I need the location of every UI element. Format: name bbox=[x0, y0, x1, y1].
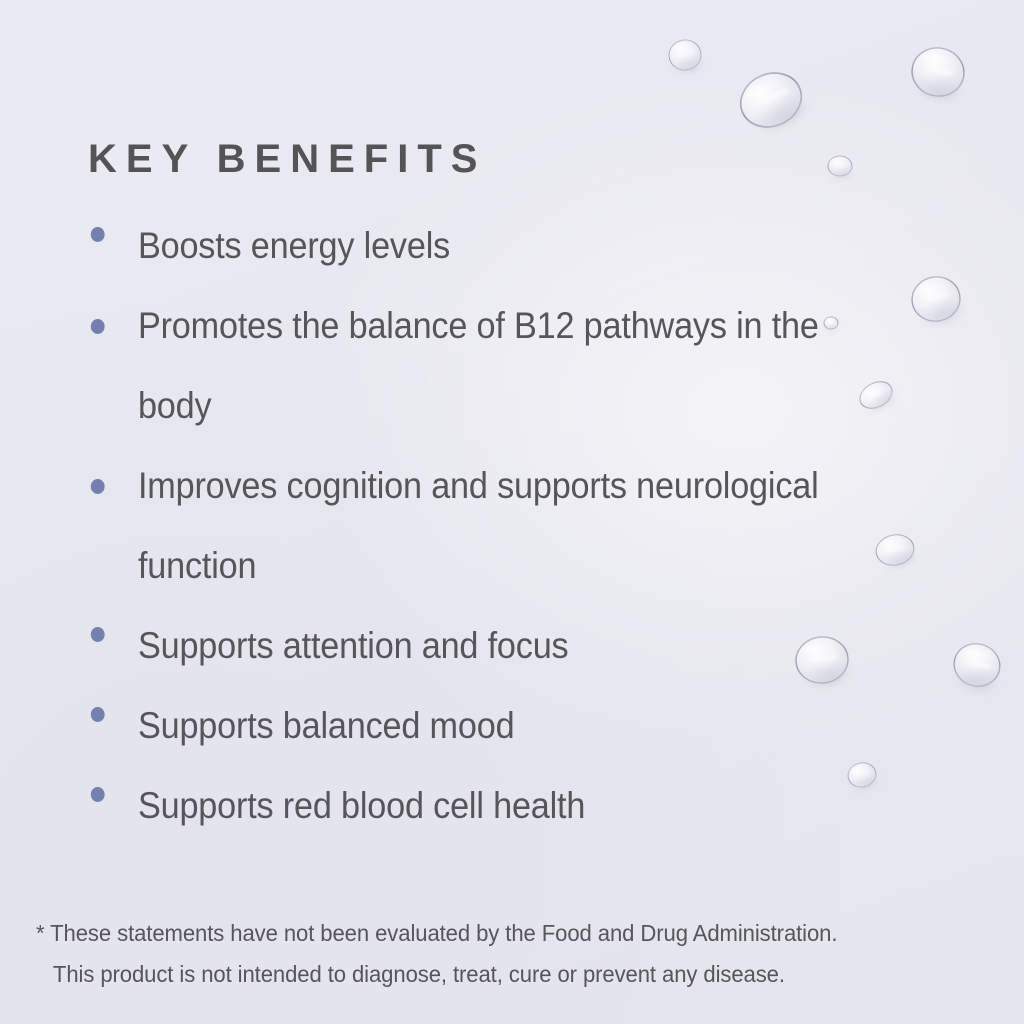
benefits-list: Boosts energy levelsPromotes the balance… bbox=[88, 206, 928, 846]
fda-disclaimer: * These statements have not been evaluat… bbox=[36, 913, 938, 995]
content-layer: KEY BENEFITS Boosts energy levelsPromote… bbox=[0, 0, 1024, 1024]
benefit-item-label: Supports balanced mood bbox=[138, 686, 865, 766]
benefit-item: Boosts energy levels bbox=[88, 206, 865, 286]
benefit-item-label: Supports attention and focus bbox=[138, 606, 865, 686]
benefit-item: Promotes the balance of B12 pathways in … bbox=[88, 286, 865, 446]
bullet-dot-icon bbox=[91, 707, 105, 722]
bullet-dot-icon bbox=[91, 479, 105, 494]
disclaimer-line-1: * These statements have not been evaluat… bbox=[36, 913, 938, 954]
benefit-item: Improves cognition and supports neurolog… bbox=[88, 446, 865, 606]
bullet-dot-icon bbox=[91, 787, 105, 802]
disclaimer-line-2: This product is not intended to diagnose… bbox=[36, 954, 938, 995]
benefit-item-label: Promotes the balance of B12 pathways in … bbox=[138, 286, 865, 446]
bullet-dot-icon bbox=[91, 227, 105, 242]
benefit-item: Supports red blood cell health bbox=[88, 766, 865, 846]
bullet-dot-icon bbox=[91, 627, 105, 642]
benefit-item-label: Supports red blood cell health bbox=[138, 766, 865, 846]
benefit-item: Supports balanced mood bbox=[88, 686, 865, 766]
page-title: KEY BENEFITS bbox=[88, 139, 486, 179]
key-benefits-card: KEY BENEFITS Boosts energy levelsPromote… bbox=[0, 0, 1024, 1024]
benefit-item-label: Boosts energy levels bbox=[138, 206, 865, 286]
bullet-dot-icon bbox=[91, 319, 105, 334]
benefit-item: Supports attention and focus bbox=[88, 606, 865, 686]
benefit-item-label: Improves cognition and supports neurolog… bbox=[138, 446, 865, 606]
